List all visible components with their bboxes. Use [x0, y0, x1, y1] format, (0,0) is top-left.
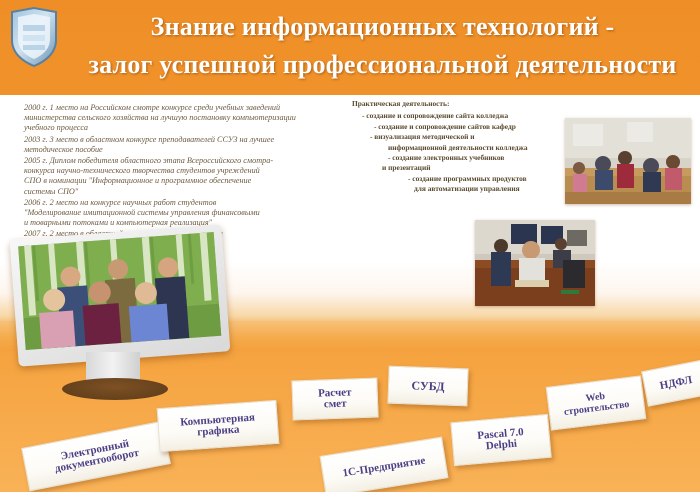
title-line-1: Знание информационных технологий - [151, 12, 615, 41]
card-ndfl[interactable]: НДФЛ [641, 359, 700, 407]
practice-item: - создание электронных учебников [388, 153, 557, 163]
card-line: НДФЛ [659, 374, 693, 391]
achievement-item: 2006 г. 2 место на конкурсе научных рабо… [24, 198, 260, 229]
practice-item: информационной деятельности колледжа [388, 143, 557, 153]
practice-item: и презентаций [382, 163, 557, 173]
card-line: Delphi [478, 438, 525, 453]
card-pascal-delphi[interactable]: Pascal 7.0 Delphi [450, 414, 551, 466]
poster-header: Знание информационных технологий - залог… [0, 0, 700, 95]
card-estimate-calc[interactable]: Расчет смет [291, 378, 378, 421]
card-line: смет [318, 398, 352, 410]
title-line-2: залог успешной профессиональной деятельн… [75, 46, 690, 84]
practice-item: - создание и сопровождение сайта колледж… [362, 111, 557, 121]
achievement-item: 2005 г. Диплом победителя областного эта… [24, 156, 274, 197]
monitor-group-photo [10, 224, 231, 366]
practice-block: Практическая деятельность: - создание и … [352, 99, 557, 195]
photo-classroom [565, 118, 691, 204]
shield-emblem-icon [8, 6, 60, 68]
card-line: 1С-Предприятие [342, 455, 426, 479]
photo-computer-lab [475, 220, 595, 306]
achievement-item: 2000 г. 1 место на Российском смотре кон… [24, 103, 324, 134]
card-edoc[interactable]: Электронный документооборот [21, 421, 171, 492]
practice-item: - создание программных продуктов [408, 174, 557, 184]
achievement-item: 2003 г. 3 место в областном конкурсе пре… [24, 135, 296, 155]
page-title: Знание информационных технологий - залог… [75, 8, 690, 84]
monitor-base-shadow [62, 378, 168, 400]
practice-item: для автоматизации управления [414, 184, 557, 194]
monitor-screen [18, 232, 221, 350]
practice-item: - создание и сопровождение сайтов кафедр [374, 122, 557, 132]
card-web-development[interactable]: Web строительство [546, 375, 647, 430]
practice-item: - визуализация методической и [370, 132, 557, 142]
card-1c-enterprise[interactable]: 1С-Предприятие [319, 437, 448, 492]
card-line: СУБД [411, 380, 444, 392]
poster-canvas: Знание информационных технологий - залог… [0, 0, 700, 492]
practice-title: Практическая деятельность: [352, 99, 557, 109]
card-computer-graphics[interactable]: Компьютерная графика [157, 400, 280, 452]
card-database[interactable]: СУБД [387, 366, 468, 407]
